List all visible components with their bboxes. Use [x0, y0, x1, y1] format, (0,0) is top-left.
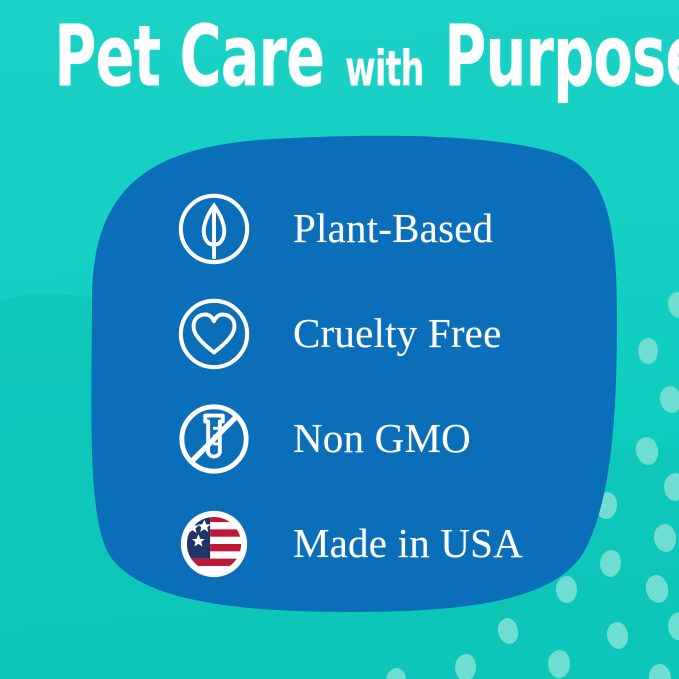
feature-row-cruelty-free: Cruelty Free [0, 281, 679, 386]
headline-part-3: Purpose [444, 6, 679, 106]
feature-list: Plant-Based Cruelty Free [0, 176, 679, 596]
feature-label-non-gmo: Non GMO [293, 418, 471, 459]
no-gmo-icon [175, 400, 253, 478]
heart-icon [175, 295, 253, 373]
usa-flag-icon [175, 505, 253, 583]
feature-label-made-in-usa: Made in USA [293, 523, 523, 564]
headline-part-1: Pet Care [54, 6, 324, 106]
promo-banner: Pet Care with Purpose® Plant-Based [0, 0, 679, 679]
leaf-icon [175, 190, 253, 268]
feature-row-non-gmo: Non GMO [0, 386, 679, 491]
feature-label-plant-based: Plant-Based [293, 208, 493, 249]
feature-label-cruelty-free: Cruelty Free [293, 313, 501, 354]
headline-part-2: with [343, 41, 425, 98]
feature-row-made-in-usa: Made in USA [0, 491, 679, 596]
page-title: Pet Care with Purpose® [54, 14, 624, 99]
feature-row-plant-based: Plant-Based [0, 176, 679, 281]
